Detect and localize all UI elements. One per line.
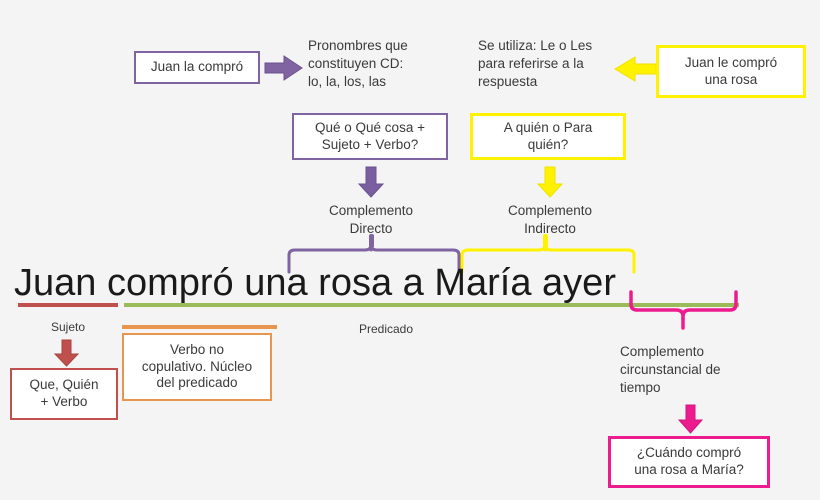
se-utiliza-line-3: respuesta (478, 73, 628, 91)
cuando-compro-line-2: una rosa a María? (634, 462, 744, 479)
que-o-que-cosa-line-1: Qué o Qué cosa + (315, 120, 425, 137)
complemento-circunstancial-line-3: tiempo (620, 379, 780, 397)
arrow-right-purple-icon (264, 54, 304, 82)
box-juan-la-compro-label: Juan la compró (151, 59, 243, 76)
complemento-directo-line-1: Complemento (300, 202, 442, 220)
text-pronombres-cd: Pronombres que constituyen CD: lo, la, l… (308, 37, 468, 92)
complemento-indirecto-line-2: Indirecto (479, 220, 621, 238)
box-que-quien-verbo[interactable]: Que, Quién + Verbo (10, 368, 118, 420)
arrow-down-yellow-icon (536, 166, 564, 198)
connector-yellow-ci (543, 234, 548, 248)
box-juan-la-compro[interactable]: Juan la compró (134, 51, 260, 84)
complemento-circunstancial-line-2: circunstancial de (620, 361, 780, 379)
box-juan-le-compro-una-rosa[interactable]: Juan le compró una rosa (656, 45, 806, 98)
diagram-canvas: Juan la compró Pronombres que constituye… (0, 0, 820, 500)
box-verbo-no-copulativo[interactable]: Verbo no copulativo. Núcleo del predicad… (122, 333, 272, 401)
box-cuando-compro[interactable]: ¿Cuándo compró una rosa a María? (608, 436, 770, 488)
text-se-utiliza-le-les: Se utiliza: Le o Les para referirse a la… (478, 37, 628, 92)
text-complemento-circunstancial: Complemento circunstancial de tiempo (620, 343, 780, 398)
underline-nucleo-orange (122, 325, 277, 329)
pronombres-line-2: constituyen CD: (308, 55, 468, 73)
text-complemento-indirecto: Complemento Indirecto (479, 202, 621, 238)
cuando-compro-line-1: ¿Cuándo compró (637, 445, 741, 462)
que-quien-line-2: + Verbo (41, 394, 88, 411)
brace-bottom-pink-icon (628, 291, 740, 329)
arrow-down-red-icon (54, 339, 80, 367)
pronombres-line-3: lo, la, los, las (308, 73, 468, 91)
text-complemento-directo: Complemento Directo (300, 202, 442, 238)
main-sentence: Juan compró una rosa a María ayer (14, 262, 616, 305)
se-utiliza-line-2: para referirse a la (478, 55, 628, 73)
verbo-no-copulativo-line-3: del predicado (156, 375, 237, 392)
que-quien-line-1: Que, Quién (29, 377, 98, 394)
juan-le-compro-line-2: una rosa (705, 72, 758, 89)
complemento-indirecto-line-1: Complemento (479, 202, 621, 220)
box-que-o-que-cosa[interactable]: Qué o Qué cosa + Sujeto + Verbo? (292, 113, 448, 160)
que-o-que-cosa-line-2: Sujeto + Verbo? (322, 137, 418, 154)
arrow-left-yellow-icon (613, 55, 657, 83)
label-sujeto: Sujeto (18, 320, 118, 334)
label-predicado: Predicado (306, 322, 466, 336)
complemento-circunstancial-line-1: Complemento (620, 343, 780, 361)
verbo-no-copulativo-line-2: copulativo. Núcleo (142, 359, 252, 376)
verbo-no-copulativo-line-1: Verbo no (170, 342, 224, 359)
arrow-down-pink-icon (678, 404, 704, 434)
juan-le-compro-line-1: Juan le compró (685, 55, 777, 72)
a-quien-line-1: A quién o Para (504, 120, 593, 137)
underline-sujeto-red (18, 303, 118, 307)
pronombres-line-1: Pronombres que (308, 37, 468, 55)
box-a-quien-o-para-quien[interactable]: A quién o Para quién? (470, 113, 626, 160)
se-utiliza-line-1: Se utiliza: Le o Les (478, 37, 628, 55)
a-quien-line-2: quién? (528, 137, 569, 154)
connector-purple-cd (369, 234, 374, 248)
arrow-down-purple-icon (357, 166, 385, 198)
